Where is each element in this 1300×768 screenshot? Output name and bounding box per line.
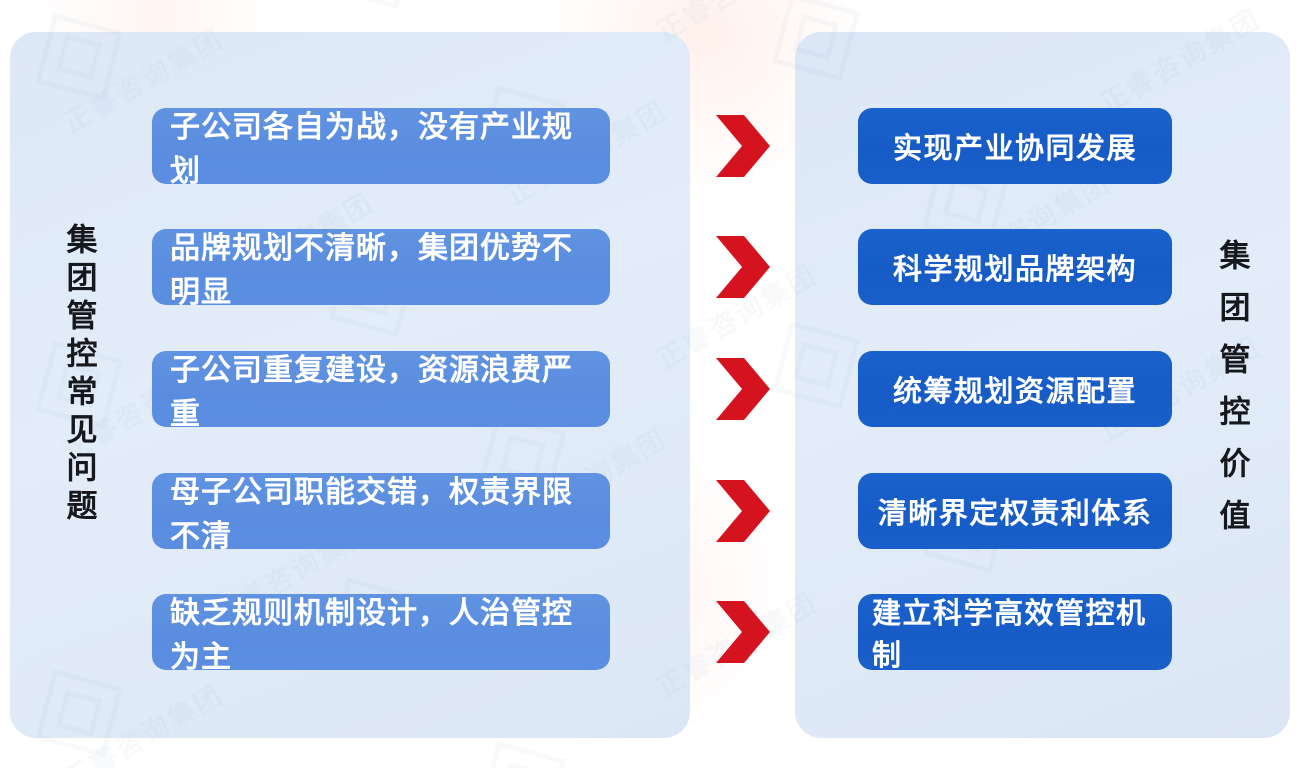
chevron-right-icon xyxy=(713,477,773,545)
chevron-right-icon xyxy=(713,355,773,423)
comparison-row: 子公司各自为战，没有产业规划 实现产业协同发展 xyxy=(0,108,1300,184)
problem-pill[interactable]: 子公司重复建设，资源浪费严重 xyxy=(152,351,610,427)
problem-pill[interactable]: 缺乏规则机制设计，人治管控为主 xyxy=(152,594,610,670)
chevron-right-icon xyxy=(713,233,773,301)
chevron-right-icon xyxy=(713,112,773,180)
chevron-right-icon xyxy=(713,598,773,666)
values-panel-title: 集团管控价值 xyxy=(1215,239,1248,539)
comparison-rows: 子公司各自为战，没有产业规划 实现产业协同发展 品牌规划不清晰，集团优势不明显 … xyxy=(0,0,1300,768)
comparison-row: 母子公司职能交错，权责界限不清 清晰界定权责利体系 xyxy=(0,473,1300,549)
value-pill[interactable]: 实现产业协同发展 xyxy=(858,108,1172,184)
comparison-row: 品牌规划不清晰，集团优势不明显 科学规划品牌架构 xyxy=(0,229,1300,305)
problems-panel-title: 集团管控常见问题 xyxy=(62,223,95,543)
value-pill[interactable]: 建立科学高效管控机制 xyxy=(858,594,1172,670)
problem-pill[interactable]: 子公司各自为战，没有产业规划 xyxy=(152,108,610,184)
comparison-row: 缺乏规则机制设计，人治管控为主 建立科学高效管控机制 xyxy=(0,594,1300,670)
infographic-canvas: 正睿咨询集团正睿咨询集团正睿咨询集团正睿咨询集团正睿咨询集团正睿咨询集团正睿咨询… xyxy=(0,0,1300,768)
value-pill[interactable]: 科学规划品牌架构 xyxy=(858,229,1172,305)
problem-pill[interactable]: 品牌规划不清晰，集团优势不明显 xyxy=(152,229,610,305)
value-pill[interactable]: 统筹规划资源配置 xyxy=(858,351,1172,427)
comparison-row: 子公司重复建设，资源浪费严重 统筹规划资源配置 xyxy=(0,351,1300,427)
problem-pill[interactable]: 母子公司职能交错，权责界限不清 xyxy=(152,473,610,549)
value-pill[interactable]: 清晰界定权责利体系 xyxy=(858,473,1172,549)
